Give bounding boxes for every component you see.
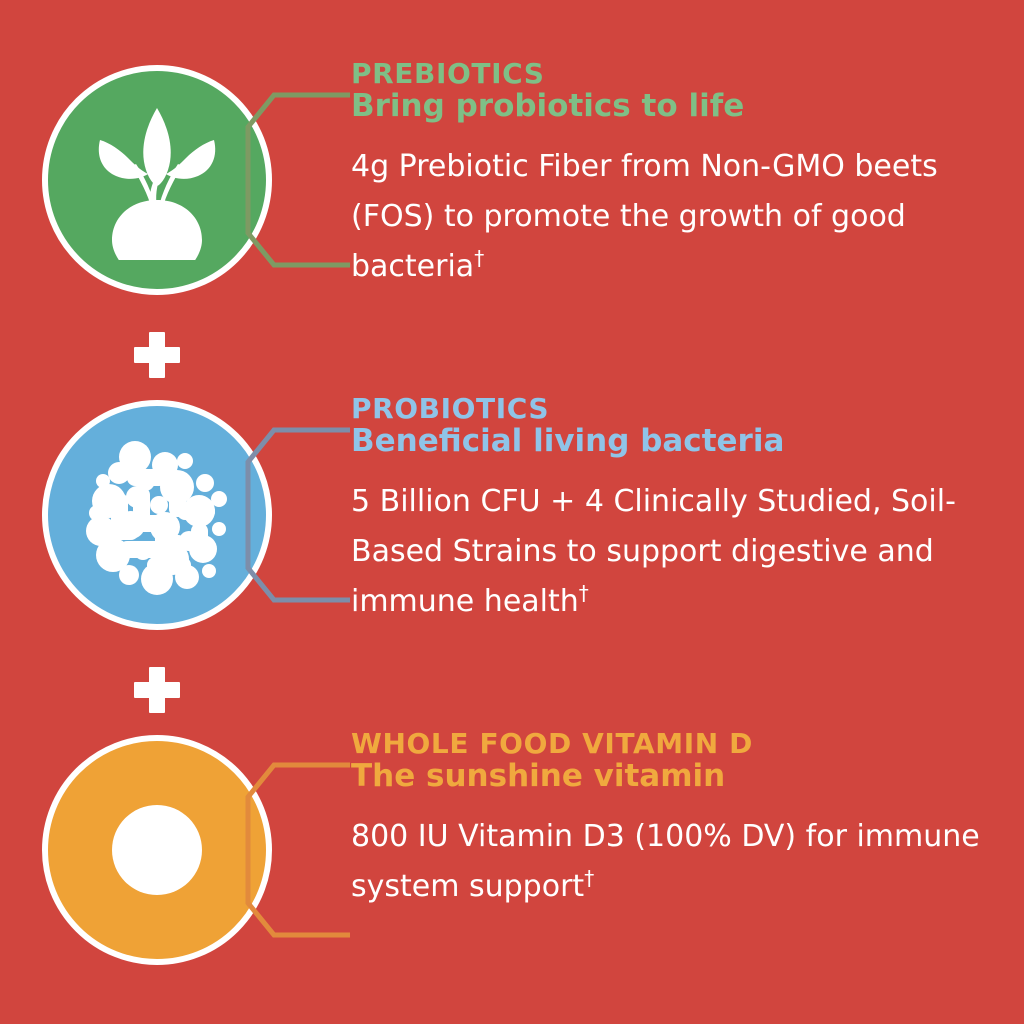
probiotics-badge [42,400,272,630]
vitamind-subhead: The sunshine vitamin [351,758,991,796]
section-probiotics: PROBIOTICS Beneficial living bacteria 5 … [0,395,1024,665]
section-prebiotics: PREBIOTICS Bring probiotics to life 4g P… [0,60,1024,330]
probiotics-subhead: Beneficial living bacteria [351,423,991,461]
prebiotics-body-text: 4g Prebiotic Fiber from Non-GMO beets (F… [351,149,938,284]
section-vitamind: WHOLE FOOD VITAMIN D The sunshine vitami… [0,730,1024,1000]
prebiotics-badge [42,65,272,295]
plus-bar-vertical [149,667,165,713]
sun-icon [67,760,247,940]
plus-separator-2 [134,667,180,713]
vitamind-kicker: WHOLE FOOD VITAMIN D [351,730,991,758]
infographic-canvas: PREBIOTICS Bring probiotics to life 4g P… [0,0,1024,1024]
vitamind-badge [42,735,272,965]
probiotics-footnote-marker: † [579,581,589,605]
bacteria-cluster-icon [73,431,241,599]
vitamind-text: WHOLE FOOD VITAMIN D The sunshine vitami… [351,730,991,912]
prebiotics-kicker: PREBIOTICS [351,60,991,88]
probiotics-kicker: PROBIOTICS [351,395,991,423]
vitamind-footnote-marker: † [584,866,594,890]
beet-icon [82,100,232,260]
prebiotics-footnote-marker: † [474,246,484,270]
prebiotics-text: PREBIOTICS Bring probiotics to life 4g P… [351,60,991,292]
probiotics-text: PROBIOTICS Beneficial living bacteria 5 … [351,395,991,627]
probiotics-body-text: 5 Billion CFU + 4 Clinically Studied, So… [351,484,956,619]
vitamind-body: 800 IU Vitamin D3 (100% DV) for immune s… [351,796,991,912]
vitamind-body-text: 800 IU Vitamin D3 (100% DV) for immune s… [351,819,980,904]
prebiotics-subhead: Bring probiotics to life [351,88,991,126]
plus-bar-vertical [149,332,165,378]
probiotics-body: 5 Billion CFU + 4 Clinically Studied, So… [351,461,991,627]
prebiotics-body: 4g Prebiotic Fiber from Non-GMO beets (F… [351,126,991,292]
plus-separator-1 [134,332,180,378]
